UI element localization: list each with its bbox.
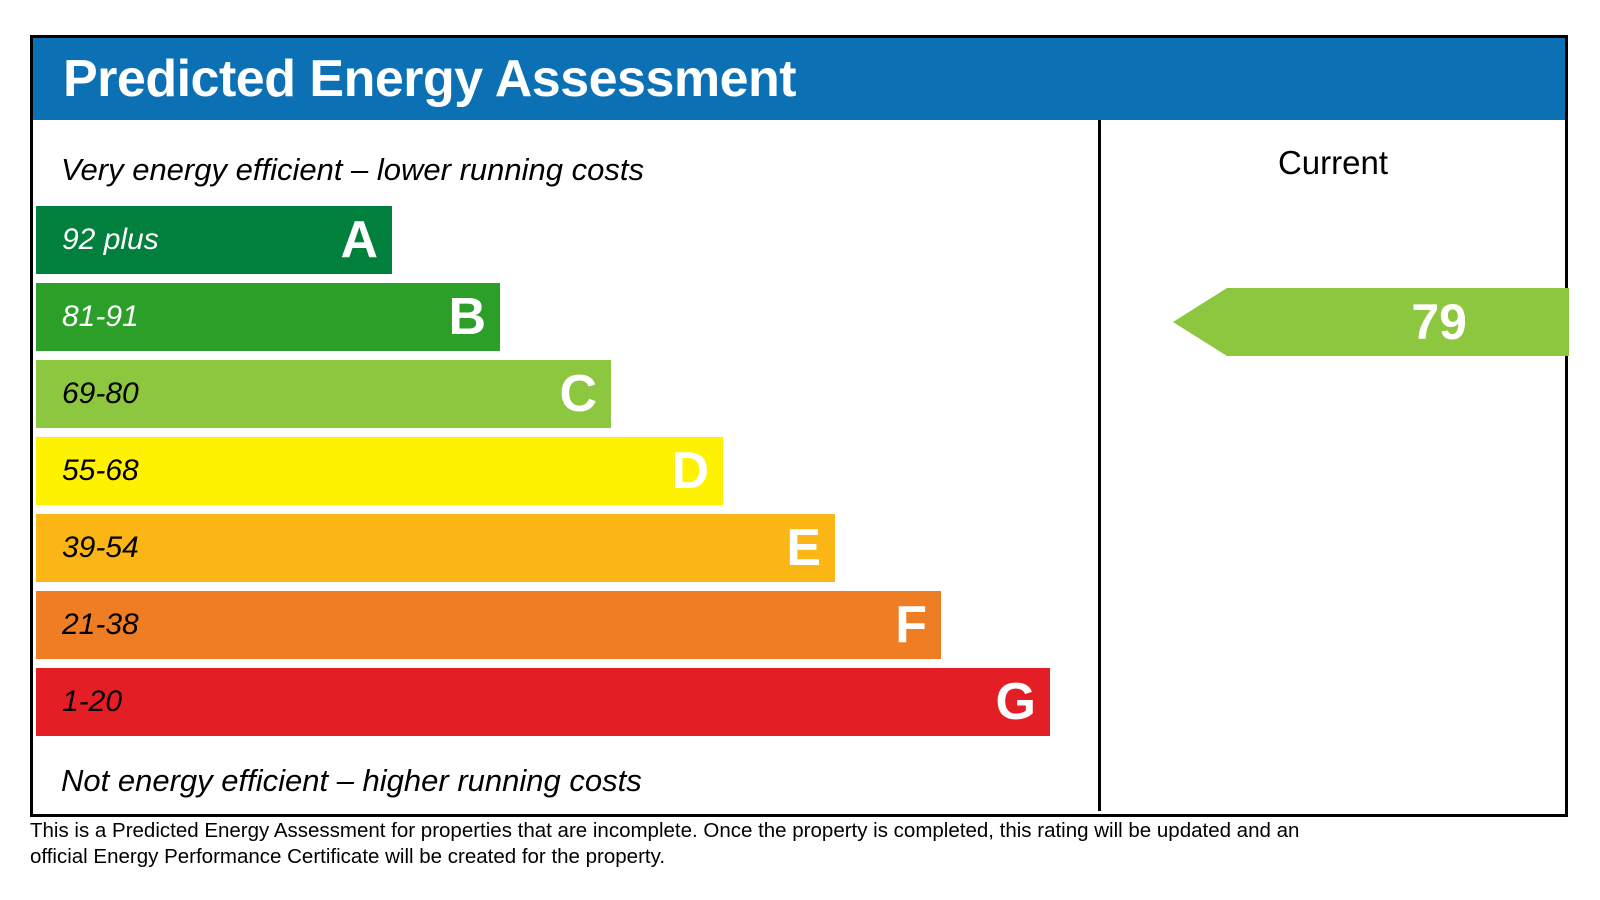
rating-band-g-letter: G	[996, 676, 1036, 728]
rating-band-f-letter: F	[895, 599, 927, 651]
rating-band-d: 55-68 D	[36, 437, 723, 505]
rating-band-a: 92 plus A	[36, 206, 392, 274]
rating-band-g-range: 1-20	[62, 687, 122, 717]
rating-band-g: 1-20 G	[36, 668, 1050, 736]
footer-note: This is a Predicted Energy Assessment fo…	[30, 818, 1290, 870]
rating-band-e-range: 39-54	[62, 533, 139, 563]
current-rating-value: 79	[1411, 297, 1467, 347]
rating-band-b: 81-91 B	[36, 283, 500, 351]
rating-band-b-range: 81-91	[62, 302, 139, 332]
footer-note-line-2: official Energy Performance Certificate …	[30, 844, 1290, 870]
rating-band-list: 92 plus A 81-91 B 69-80 C 55-68 D	[33, 206, 1098, 747]
rating-band-c-letter: C	[559, 368, 597, 420]
footer-note-line-1: This is a Predicted Energy Assessment fo…	[30, 818, 1290, 844]
rating-band-c-range: 69-80	[62, 379, 139, 409]
certificate-body: Very energy efficient – lower running co…	[33, 120, 1565, 811]
rating-band-e: 39-54 E	[36, 514, 835, 582]
energy-rating-scale: Very energy efficient – lower running co…	[33, 120, 1098, 811]
current-rating-heading: Current	[1101, 146, 1565, 179]
rating-band-c: 69-80 C	[36, 360, 611, 428]
current-rating-pane: Current 79	[1101, 120, 1565, 811]
left-arrow-icon	[1173, 288, 1569, 356]
rating-band-d-letter: D	[671, 445, 709, 497]
scale-bottom-caption: Not energy efficient – higher running co…	[61, 765, 642, 796]
current-rating-arrow: 79	[1173, 288, 1569, 356]
title-bar: Predicted Energy Assessment	[33, 38, 1565, 120]
epc-certificate: Predicted Energy Assessment Very energy …	[0, 0, 1600, 900]
rating-band-e-letter: E	[786, 522, 821, 574]
rating-band-d-range: 55-68	[62, 456, 139, 486]
certificate-frame: Predicted Energy Assessment Very energy …	[30, 35, 1568, 817]
scale-top-caption: Very energy efficient – lower running co…	[61, 154, 644, 185]
rating-band-a-letter: A	[340, 214, 378, 266]
rating-band-f: 21-38 F	[36, 591, 941, 659]
rating-band-b-letter: B	[448, 291, 486, 343]
rating-band-f-range: 21-38	[62, 610, 139, 640]
rating-band-a-range: 92 plus	[62, 225, 159, 255]
page-title: Predicted Energy Assessment	[63, 53, 796, 105]
